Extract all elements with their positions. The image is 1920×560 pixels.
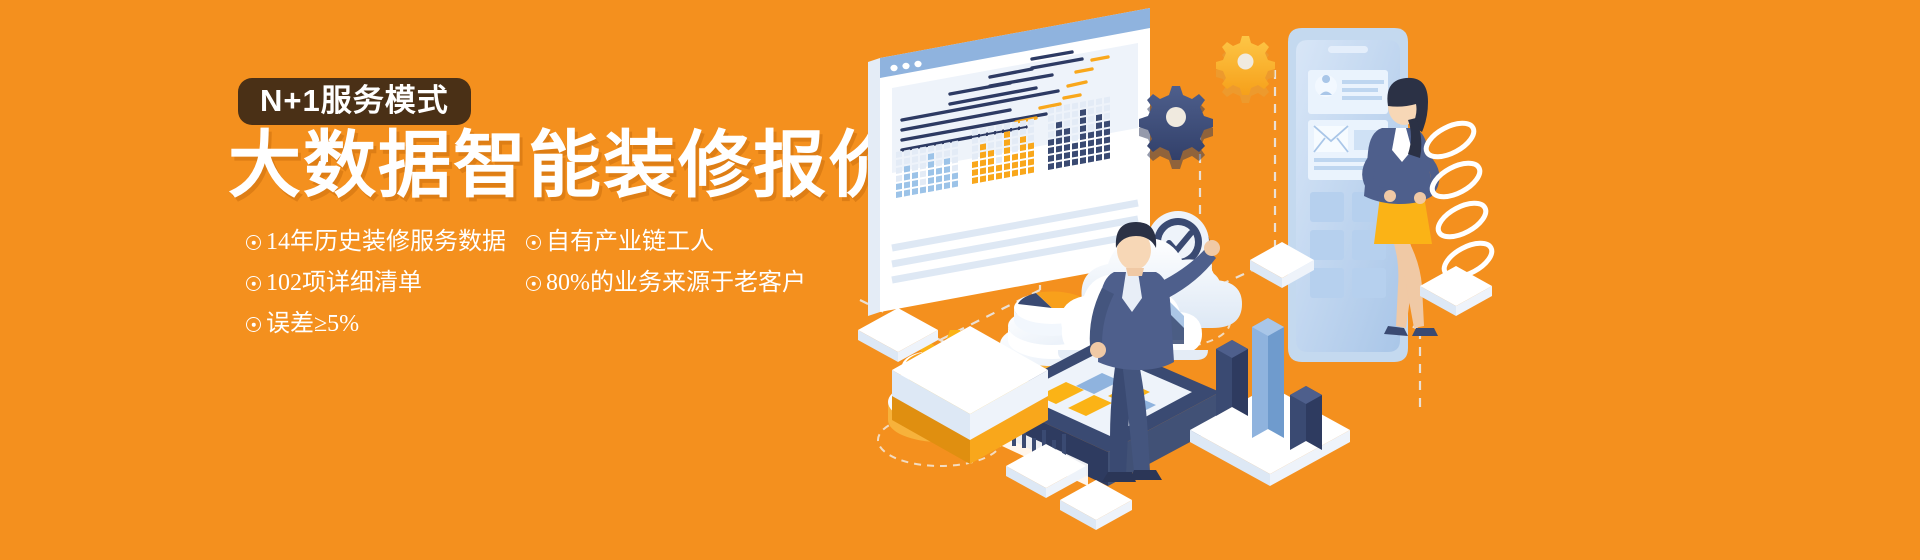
target-dot-icon: [526, 276, 541, 291]
list-item-label: 误差≥5%: [266, 304, 359, 345]
list-item-label: 80%的业务来源于老客户: [546, 263, 806, 304]
gear-yellow: [1216, 36, 1275, 103]
feature-bullet-list: 14年历史装修服务数据 102项详细清单 误差≥5% 自有产业链工人: [246, 222, 806, 345]
list-item: 80%的业务来源于老客户: [526, 263, 806, 304]
target-dot-icon: [526, 235, 541, 250]
isometric-big-data-dashboard-illustration: [820, 0, 1920, 560]
target-dot-icon: [246, 235, 261, 250]
data-tile: [1420, 266, 1492, 316]
promo-banner: N+1服务模式 大数据智能装修报价 14年历史装修服务数据 102项详细清单 误…: [0, 0, 1920, 560]
list-item-label: 14年历史装修服务数据: [266, 222, 506, 263]
page-title: 大数据智能装修报价: [228, 128, 903, 205]
list-item: 102项详细清单: [246, 263, 526, 304]
list-item: 14年历史装修服务数据: [246, 222, 526, 263]
list-item-label: 自有产业链工人: [546, 222, 714, 263]
list-item-label: 102项详细清单: [266, 263, 422, 304]
target-dot-icon: [246, 317, 261, 332]
service-model-badge: N+1服务模式: [238, 78, 471, 125]
list-item: 自有产业链工人: [526, 222, 806, 263]
data-tile: [1060, 480, 1132, 530]
gear-navy: [1139, 86, 1213, 169]
list-item: 误差≥5%: [246, 304, 526, 345]
data-ring-stack: [1421, 116, 1497, 283]
bullet-column-left: 14年历史装修服务数据 102项详细清单 误差≥5%: [246, 222, 526, 345]
bullet-column-right: 自有产业链工人 80%的业务来源于老客户: [526, 222, 806, 345]
target-dot-icon: [246, 276, 261, 291]
